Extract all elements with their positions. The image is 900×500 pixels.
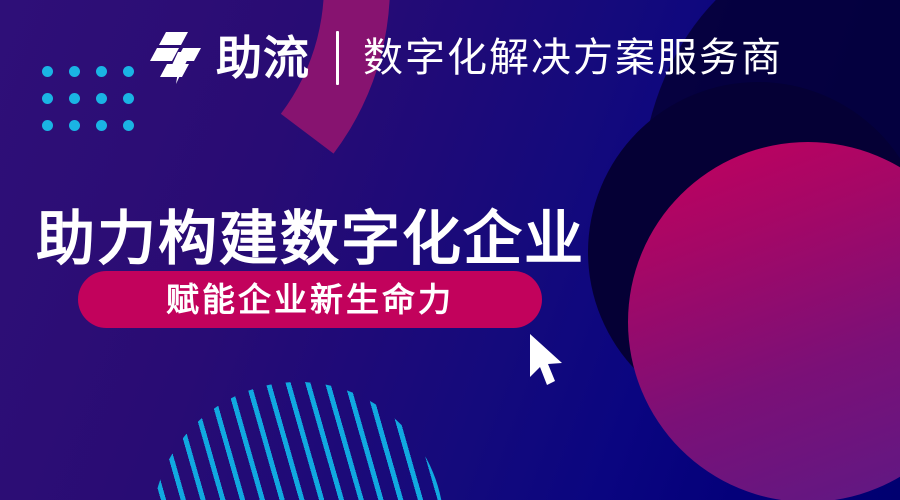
grid-dot: [42, 93, 53, 104]
brand-lockup[interactable]: 助流 数字化解决方案服务商: [148, 27, 783, 89]
mouse-pointer-icon: [528, 333, 568, 389]
grid-dot: [123, 93, 134, 104]
magenta-gradient-circle-icon: [628, 142, 900, 500]
grid-dot: [96, 93, 107, 104]
page-title: 助力构建数字化企业: [36, 208, 585, 272]
brand-divider: [336, 31, 339, 85]
grid-dot: [123, 66, 134, 77]
cyan-striped-circle-icon: [152, 382, 444, 500]
grid-dot: [96, 120, 107, 131]
grid-dot: [96, 66, 107, 77]
brand-name: 助流: [216, 35, 310, 81]
grid-dot: [69, 93, 80, 104]
grid-dot: [123, 120, 134, 131]
lightning-flow-logo-icon: [148, 30, 206, 86]
dark-navy-circle-icon: [588, 82, 900, 422]
grid-dot: [69, 66, 80, 77]
grid-dot: [69, 120, 80, 131]
grid-dot: [42, 66, 53, 77]
cyan-dot-grid-icon: [42, 66, 134, 131]
brand-tagline: 数字化解决方案服务商: [363, 38, 783, 78]
promo-banner: 助流 数字化解决方案服务商 助力构建数字化企业 赋能企业新生命力: [0, 0, 900, 500]
status-badge[interactable]: 赋能企业新生命力: [78, 271, 542, 328]
status-badge-label: 赋能企业新生命力: [166, 283, 454, 316]
grid-dot: [42, 120, 53, 131]
diagonal-stripes: [152, 382, 444, 500]
